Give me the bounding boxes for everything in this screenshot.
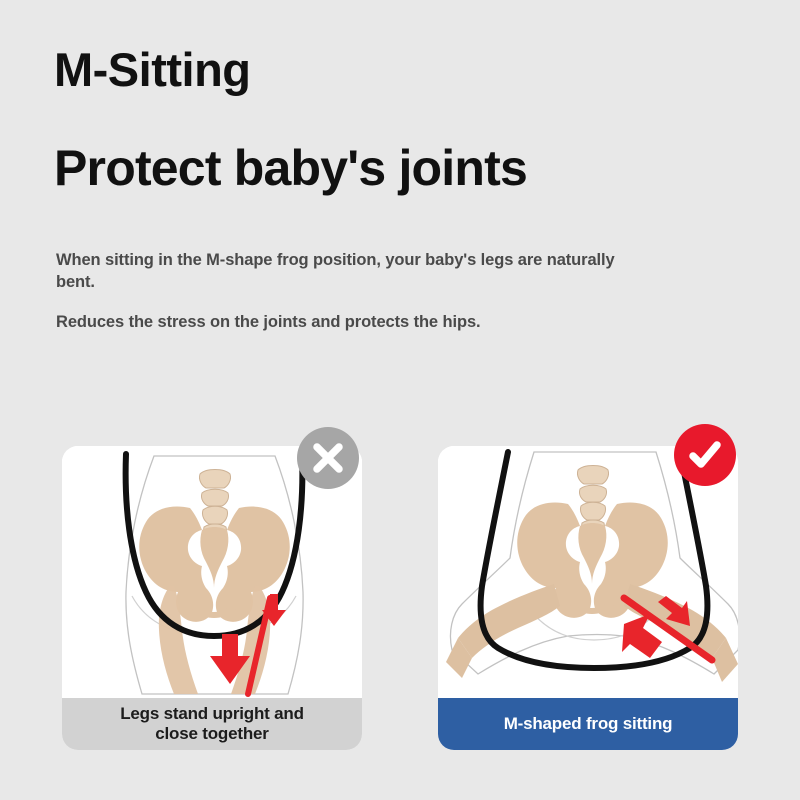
page-root: M-Sitting Protect baby's joints When sit… xyxy=(0,0,800,800)
caption-incorrect: Legs stand upright and close together xyxy=(62,698,362,750)
check-circle-icon xyxy=(674,424,736,486)
comparison-section: Legs stand upright and close together xyxy=(0,0,800,800)
caption-incorrect-line-2: close together xyxy=(120,724,304,744)
comparison-card-correct: M-shaped frog sitting xyxy=(438,446,738,750)
comparison-card-incorrect: Legs stand upright and close together xyxy=(62,446,362,750)
caption-incorrect-line-1: Legs stand upright and xyxy=(120,704,304,724)
caption-correct: M-shaped frog sitting xyxy=(438,698,738,750)
cross-circle-icon xyxy=(297,427,359,489)
